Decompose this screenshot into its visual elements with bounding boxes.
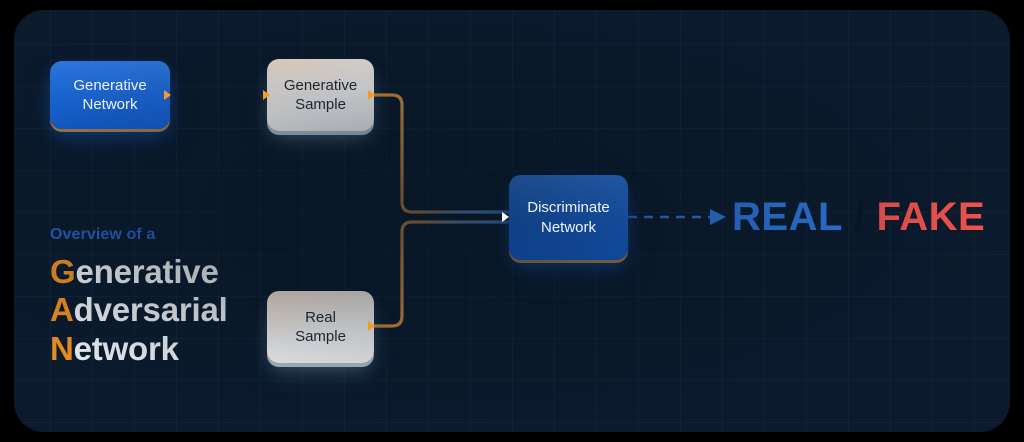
verdict-arrowhead-icon [710,209,726,225]
title-line-adversarial: Adversarial [50,291,350,329]
acronym-letter-a: A [50,291,74,328]
verdict-fake-label: FAKE [877,195,986,240]
title-line-generative-rest: enerative [75,253,218,290]
edge-real-sample-to-discriminate [374,222,509,326]
title-line-generative: Generative [50,253,350,291]
node-generative-network[interactable]: Generative Network [50,61,170,129]
title-overline: Overview of a [50,226,350,244]
port-generative-network-out [164,90,171,100]
acronym-letter-n: N [50,330,74,367]
verdict-output: REAL / FAKE [732,195,985,240]
title-line-adversarial-rest: dversarial [74,291,228,328]
title-line-network: Network [50,330,350,368]
diagram-panel: Generative Network Generative Sample Rea… [14,10,1010,432]
diagram-canvas: Generative Network Generative Sample Rea… [0,0,1024,442]
node-generative-sample-label: Generative Sample [284,76,357,114]
title-block: Overview of a Generative Adversarial Net… [50,226,350,368]
port-generative-sample-in [263,90,270,100]
verdict-real-label: REAL [732,195,843,240]
node-generative-network-label: Generative Network [73,76,146,114]
title-line-network-rest: etwork [74,330,179,367]
node-discriminate-network[interactable]: Discriminate Network [509,175,628,260]
verdict-separator: / [854,195,866,240]
edge-generative-sample-to-discriminate [374,95,509,212]
port-real-sample-out [368,321,375,331]
port-discriminate-network-in [502,212,509,222]
acronym-letter-g: G [50,253,75,290]
port-generative-sample-out [368,90,375,100]
node-discriminate-network-label: Discriminate Network [527,198,610,236]
node-generative-sample[interactable]: Generative Sample [267,59,374,131]
